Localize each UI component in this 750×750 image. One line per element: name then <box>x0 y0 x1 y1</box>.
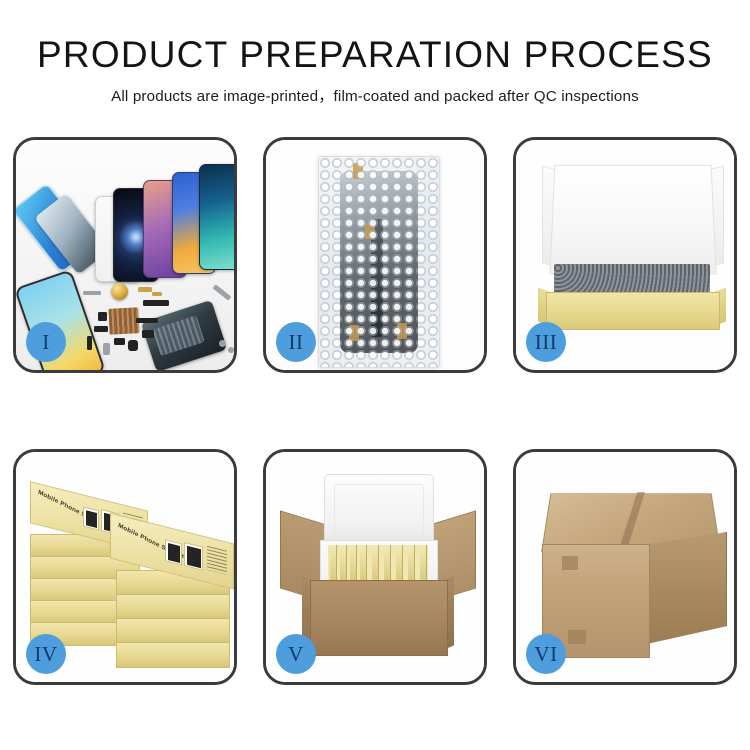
small-part <box>87 336 92 350</box>
foam-lined-carton-image: V Boxes packed inside foam-lined carton <box>266 452 484 682</box>
step-badge-3: III <box>526 322 566 362</box>
bubble-wrapped-part-image: II Single part sealed in bubble-wrap bag <box>266 140 484 370</box>
phone-parts-assortment-image: I Assorted mobile phone screens and spar… <box>16 140 234 370</box>
stacked-box <box>116 618 230 644</box>
carton-tape-lower <box>568 630 586 644</box>
tape-tab <box>349 325 359 341</box>
box-base-front <box>546 292 720 330</box>
step-badge-4: IV <box>26 634 66 674</box>
small-part <box>94 326 108 332</box>
small-part <box>103 343 110 355</box>
flex-cable-part <box>136 318 158 323</box>
chip-array-part <box>108 307 139 335</box>
process-step-panel-5: V Boxes packed inside foam-lined carton <box>263 449 487 685</box>
step-badge-1: I <box>26 322 66 362</box>
small-part <box>128 340 138 351</box>
flex-cable-part <box>143 300 169 306</box>
tape-tab <box>397 323 407 339</box>
carton-side-face <box>647 532 727 644</box>
step-badge-5: V <box>276 634 316 674</box>
page-subtitle: All products are image-printed，film-coat… <box>0 84 750 106</box>
tweezers-part <box>213 284 232 300</box>
small-part <box>142 330 154 338</box>
process-step-panel-3: III Wrapped part placed in yellow inner … <box>513 137 737 373</box>
box-window <box>165 539 182 565</box>
screw-part <box>219 340 226 347</box>
gold-coil-part <box>111 283 128 300</box>
bubble-wrap-bag <box>318 156 440 368</box>
carton-body-front <box>310 580 448 656</box>
process-step-panel-2: II Single part sealed in bubble-wrap bag <box>263 137 487 373</box>
small-part <box>83 291 101 295</box>
packed-yellow-boxes <box>328 545 428 583</box>
box-lid <box>549 165 716 275</box>
carton-tape-upper <box>562 556 578 570</box>
process-step-panel-6: VI Sealed outer shipping carton <box>513 449 737 685</box>
stacked-box <box>116 642 230 668</box>
small-part <box>138 287 152 292</box>
small-part <box>152 292 162 296</box>
small-part <box>98 312 107 321</box>
tape-tab <box>365 223 375 239</box>
screw-part <box>228 347 234 353</box>
tape-tab <box>353 163 363 179</box>
header: PRODUCT PREPARATION PROCESS All products… <box>0 0 750 106</box>
box-window <box>83 507 99 531</box>
step-badge-6: VI <box>526 634 566 674</box>
process-step-panel-1: I Assorted mobile phone screens and spar… <box>13 137 237 373</box>
sealed-shipping-carton-image: VI Sealed outer shipping carton <box>516 452 734 682</box>
box-spec-lines <box>207 546 227 575</box>
stacked-inner-boxes-image: Mobile Phone Spare Parts Mobile Phone Sp… <box>16 452 234 682</box>
step-badge-2: II <box>276 322 316 362</box>
foam-lid <box>324 474 434 546</box>
small-part <box>114 338 125 345</box>
process-step-grid: I Assorted mobile phone screens and spar… <box>13 137 737 685</box>
phone-teal-display <box>199 164 234 270</box>
page-title: PRODUCT PREPARATION PROCESS <box>0 36 750 75</box>
box-window <box>184 542 203 571</box>
process-step-panel-4: Mobile Phone Spare Parts Mobile Phone Sp… <box>13 449 237 685</box>
stacked-box <box>116 594 230 620</box>
open-inner-box-image: III Wrapped part placed in yellow inner … <box>516 140 734 370</box>
